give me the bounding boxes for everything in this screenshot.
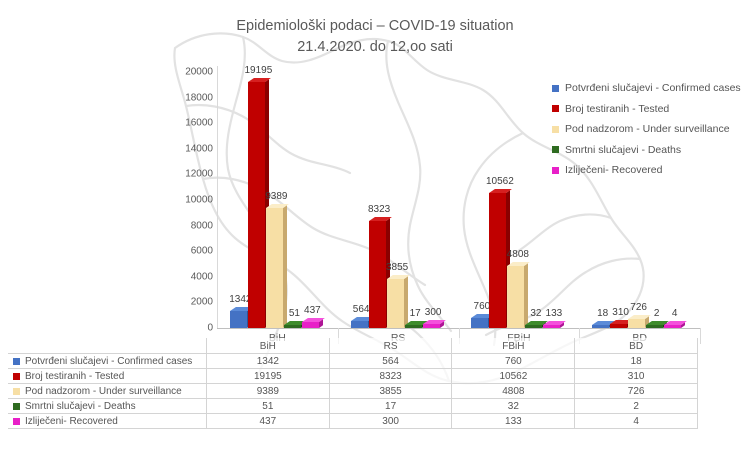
- data-table-cell: 19195: [206, 369, 329, 384]
- bar-BD-series-0[interactable]: [592, 325, 609, 328]
- bar-front-face: [302, 322, 319, 328]
- data-table-corner-cell: [9, 339, 207, 354]
- chart-title-line-1: Epidemiološki podaci – COVID-19 situatio…: [150, 16, 600, 37]
- bar-BD-series-2[interactable]: [628, 319, 645, 328]
- data-table-swatch-icon: [13, 403, 20, 410]
- bar-value-label: 19195: [244, 65, 272, 76]
- legend-swatch-icon: [552, 167, 559, 174]
- data-table-column-header: FBiH: [452, 339, 575, 354]
- bar-RS-series-2[interactable]: [387, 279, 404, 328]
- bar-value-label: 564: [353, 304, 370, 315]
- legend-item[interactable]: Broj testiranih - Tested: [552, 99, 741, 120]
- data-table-row-header: Potvrđeni slučajevi - Confirmed cases: [9, 354, 207, 369]
- data-table-cell: 4808: [452, 384, 575, 399]
- bar-front-face: [471, 318, 488, 328]
- legend-item[interactable]: Smrtni slučajevi - Deaths: [552, 140, 741, 161]
- legend-swatch-icon: [552, 105, 559, 112]
- bar-BiH-series-2[interactable]: [266, 208, 283, 328]
- bar-side-face: [524, 264, 528, 328]
- legend-swatch-icon: [552, 146, 559, 153]
- bar-FBiH-series-3[interactable]: [525, 325, 542, 328]
- data-table-cell: 310: [575, 369, 698, 384]
- data-table-body: Potvrđeni slučajevi - Confirmed cases134…: [9, 354, 698, 429]
- y-axis-tick-label: 20000: [157, 67, 213, 78]
- y-axis-tick-label: 18000: [157, 92, 213, 103]
- legend-item-label: Potvrđeni slučajevi - Confirmed cases: [565, 82, 741, 94]
- bar-value-label: 4: [672, 308, 678, 319]
- data-table-cell: 1342: [206, 354, 329, 369]
- legend-item[interactable]: Izliječeni- Recovered: [552, 160, 741, 181]
- bar-front-face: [351, 321, 368, 328]
- data-table-cell: 4: [575, 414, 698, 429]
- data-table-swatch-icon: [13, 418, 20, 425]
- bar-front-face: [266, 208, 283, 328]
- legend-item-label: Izliječeni- Recovered: [565, 164, 662, 176]
- y-axis-tick-label: 8000: [157, 220, 213, 231]
- bar-FBiH-series-1[interactable]: [489, 193, 506, 328]
- data-table-cell: 3855: [329, 384, 452, 399]
- bar-value-label: 3855: [386, 262, 408, 273]
- bar-value-label: 51: [289, 308, 300, 319]
- bar-front-face: [284, 325, 301, 328]
- data-table-cell: 51: [206, 399, 329, 414]
- bar-front-face: [489, 193, 506, 328]
- bar-BiH-series-3[interactable]: [284, 325, 301, 328]
- data-table-row-label: Pod nadzorom - Under surveillance: [25, 386, 182, 397]
- y-axis-tick-label: 16000: [157, 118, 213, 129]
- bar-value-label: 32: [530, 308, 541, 319]
- data-table-row: Pod nadzorom - Under surveillance9389385…: [9, 384, 698, 399]
- data-table-cell: 18: [575, 354, 698, 369]
- data-table-cell: 9389: [206, 384, 329, 399]
- data-table-row-label: Potvrđeni slučajevi - Confirmed cases: [25, 356, 192, 367]
- bar-RS-series-4[interactable]: [423, 324, 440, 328]
- data-table-swatch-icon: [13, 373, 20, 380]
- bar-front-face: [507, 266, 524, 328]
- data-table-cell: 17: [329, 399, 452, 414]
- bar-value-label: 9389: [265, 191, 287, 202]
- bar-value-label: 17: [410, 308, 421, 319]
- bar-front-face: [628, 319, 645, 328]
- data-table-cell: 760: [452, 354, 575, 369]
- bar-value-label: 10562: [486, 176, 514, 187]
- data-table-row-header: Smrtni slučajevi - Deaths: [9, 399, 207, 414]
- legend-item[interactable]: Potvrđeni slučajevi - Confirmed cases: [552, 78, 741, 99]
- data-table-column-header: BD: [575, 339, 698, 354]
- data-table-column-header: RS: [329, 339, 452, 354]
- legend-swatch-icon: [552, 85, 559, 92]
- data-table-cell: 10562: [452, 369, 575, 384]
- data-table-cell: 437: [206, 414, 329, 429]
- y-axis-tick-label: 6000: [157, 246, 213, 257]
- data-table-cell: 32: [452, 399, 575, 414]
- bar-value-label: 760: [474, 301, 491, 312]
- bar-front-face: [369, 221, 386, 328]
- chart-legend: Potvrđeni slučajevi - Confirmed casesBro…: [552, 78, 741, 181]
- bar-front-face: [405, 325, 422, 328]
- bar-value-label: 2: [654, 308, 660, 319]
- bar-front-face: [387, 279, 404, 328]
- y-axis-tick-label: 12000: [157, 169, 213, 180]
- bar-FBiH-series-2[interactable]: [507, 266, 524, 328]
- data-table-swatch-icon: [13, 388, 20, 395]
- bar-side-face: [283, 205, 287, 328]
- data-table-row: Izliječeni- Recovered4373001334: [9, 414, 698, 429]
- bar-front-face: [230, 311, 247, 328]
- data-table-row-label: Izliječeni- Recovered: [25, 416, 118, 427]
- bar-side-face: [404, 276, 408, 328]
- bar-BD-series-1[interactable]: [610, 324, 627, 328]
- data-table-cell: 133: [452, 414, 575, 429]
- y-axis-tick-label: 4000: [157, 271, 213, 282]
- bar-BiH-series-4[interactable]: [302, 322, 319, 328]
- bar-RS-series-3[interactable]: [405, 325, 422, 328]
- data-table-row-label: Broj testiranih - Tested: [25, 371, 124, 382]
- bar-RS-series-1[interactable]: [369, 221, 386, 328]
- legend-item[interactable]: Pod nadzorom - Under surveillance: [552, 119, 741, 140]
- data-table-cell: 300: [329, 414, 452, 429]
- bar-FBiH-series-4[interactable]: [543, 325, 560, 328]
- bar-front-face: [423, 324, 440, 328]
- y-axis-tick-label: 2000: [157, 297, 213, 308]
- data-table-row: Smrtni slučajevi - Deaths5117322: [9, 399, 698, 414]
- data-table-cell: 2: [575, 399, 698, 414]
- data-table-header-row: BiHRSFBiHBD: [9, 339, 698, 354]
- chart-title-line-2: 21.4.2020. do 12,oo sati: [150, 37, 600, 58]
- data-table-cell: 726: [575, 384, 698, 399]
- data-table-row-label: Smrtni slučajevi - Deaths: [25, 401, 136, 412]
- data-table-head: BiHRSFBiHBD: [9, 339, 698, 354]
- data-table-row-header: Izliječeni- Recovered: [9, 414, 207, 429]
- data-table-cell: 564: [329, 354, 452, 369]
- bar-BiH-series-0[interactable]: [230, 311, 247, 328]
- bar-front-face: [525, 325, 542, 328]
- bar-value-label: 4808: [507, 249, 529, 260]
- bar-front-face: [610, 324, 627, 328]
- bar-value-label: 310: [612, 307, 629, 318]
- bar-BiH-series-1[interactable]: [248, 82, 265, 328]
- bar-FBiH-series-0[interactable]: [471, 318, 488, 328]
- bar-value-label: 300: [425, 307, 442, 318]
- bar-value-label: 133: [546, 308, 563, 319]
- bar-front-face: [543, 325, 560, 328]
- bar-value-label: 437: [304, 305, 321, 316]
- data-table-row: Potvrđeni slučajevi - Confirmed cases134…: [9, 354, 698, 369]
- data-table-column-header: BiH: [206, 339, 329, 354]
- bar-value-label: 18: [597, 308, 608, 319]
- legend-item-label: Pod nadzorom - Under surveillance: [565, 123, 730, 135]
- legend-swatch-icon: [552, 126, 559, 133]
- data-table-row-header: Pod nadzorom - Under surveillance: [9, 384, 207, 399]
- data-table-swatch-icon: [13, 358, 20, 365]
- y-axis-tick-label: 14000: [157, 143, 213, 154]
- bar-value-label: 8323: [368, 204, 390, 215]
- data-table-row-header: Broj testiranih - Tested: [9, 369, 207, 384]
- y-axis-tick-label: 0: [157, 323, 213, 334]
- y-axis-tick-label: 10000: [157, 195, 213, 206]
- x-axis-tick-separator: [700, 328, 701, 344]
- data-table-cell: 8323: [329, 369, 452, 384]
- bar-front-face: [646, 325, 663, 328]
- bar-RS-series-0[interactable]: [351, 321, 368, 328]
- data-table: BiHRSFBiHBD Potvrđeni slučajevi - Confir…: [8, 338, 698, 429]
- legend-item-label: Broj testiranih - Tested: [565, 103, 669, 115]
- chart-title: Epidemiološki podaci – COVID-19 situatio…: [150, 16, 600, 58]
- bar-front-face: [664, 325, 681, 328]
- bar-BD-series-3[interactable]: [646, 325, 663, 328]
- data-table-row: Broj testiranih - Tested1919583231056231…: [9, 369, 698, 384]
- bar-front-face: [592, 325, 609, 328]
- legend-item-label: Smrtni slučajevi - Deaths: [565, 144, 681, 156]
- bar-value-label: 726: [630, 302, 647, 313]
- bar-BD-series-4[interactable]: [664, 325, 681, 328]
- y-axis-line: [217, 66, 218, 329]
- bar-front-face: [248, 82, 265, 328]
